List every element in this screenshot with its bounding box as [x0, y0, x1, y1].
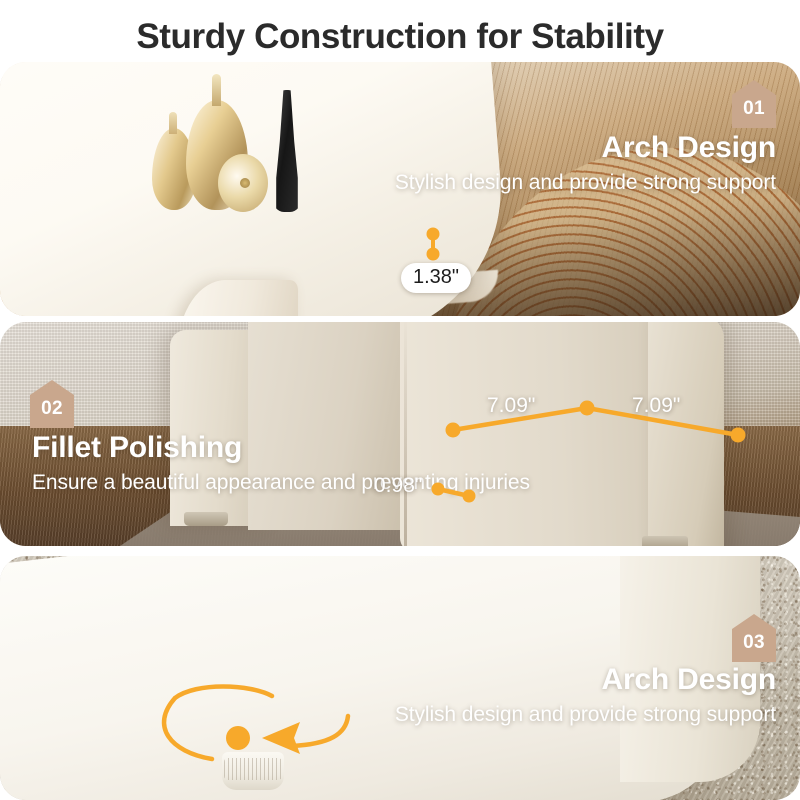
- panel-2-subtext: Ensure a beautiful appearance and preven…: [32, 470, 530, 496]
- badge-01: 01: [732, 80, 776, 128]
- panel-2-heading: Fillet Polishing: [32, 432, 530, 464]
- adjustable-foot-ridges: [224, 758, 282, 780]
- badge-01-number: 01: [732, 98, 776, 120]
- panel-1-copy: Arch Design Stylish design and provide s…: [395, 132, 776, 196]
- panel-3-copy: Arch Design Stylish design and provide s…: [395, 664, 776, 728]
- panel-1-heading: Arch Design: [395, 132, 776, 164]
- badge-03: 03: [732, 614, 776, 662]
- adjustable-foot-right: [642, 536, 688, 546]
- panel-arch-design-bottom: 03 Arch Design Stylish design and provid…: [0, 556, 800, 800]
- measure-leg-span-right: 7.09": [632, 394, 680, 418]
- panel-3-subtext: Stylish design and provide strong suppor…: [395, 702, 776, 728]
- panel-arch-design-top: 01 Arch Design Stylish design and provid…: [0, 62, 800, 316]
- panel-3-heading: Arch Design: [395, 664, 776, 696]
- gold-vase-round: [218, 154, 268, 212]
- page-title: Sturdy Construction for Stability: [0, 18, 800, 57]
- measure-leg-span-left: 7.09": [487, 394, 535, 418]
- table-base-center: [248, 322, 408, 530]
- panel-2-copy: Fillet Polishing Ensure a beautiful appe…: [32, 432, 530, 496]
- adjustable-foot-left: [184, 512, 228, 526]
- panel-1-subtext: Stylish design and provide strong suppor…: [395, 170, 776, 196]
- badge-02: 02: [30, 380, 74, 428]
- table-base-far-wing: [648, 322, 724, 546]
- measure-foot-height: 0.98": [374, 474, 422, 498]
- badge-03-number: 03: [732, 632, 776, 654]
- panel-fillet-polishing: 02 Fillet Polishing Ensure a beautiful a…: [0, 322, 800, 546]
- badge-02-number: 02: [30, 398, 74, 420]
- measure-tabletop-thickness: 1.38": [401, 263, 471, 293]
- infographic-page: Sturdy Construction for Stability 01: [0, 0, 800, 800]
